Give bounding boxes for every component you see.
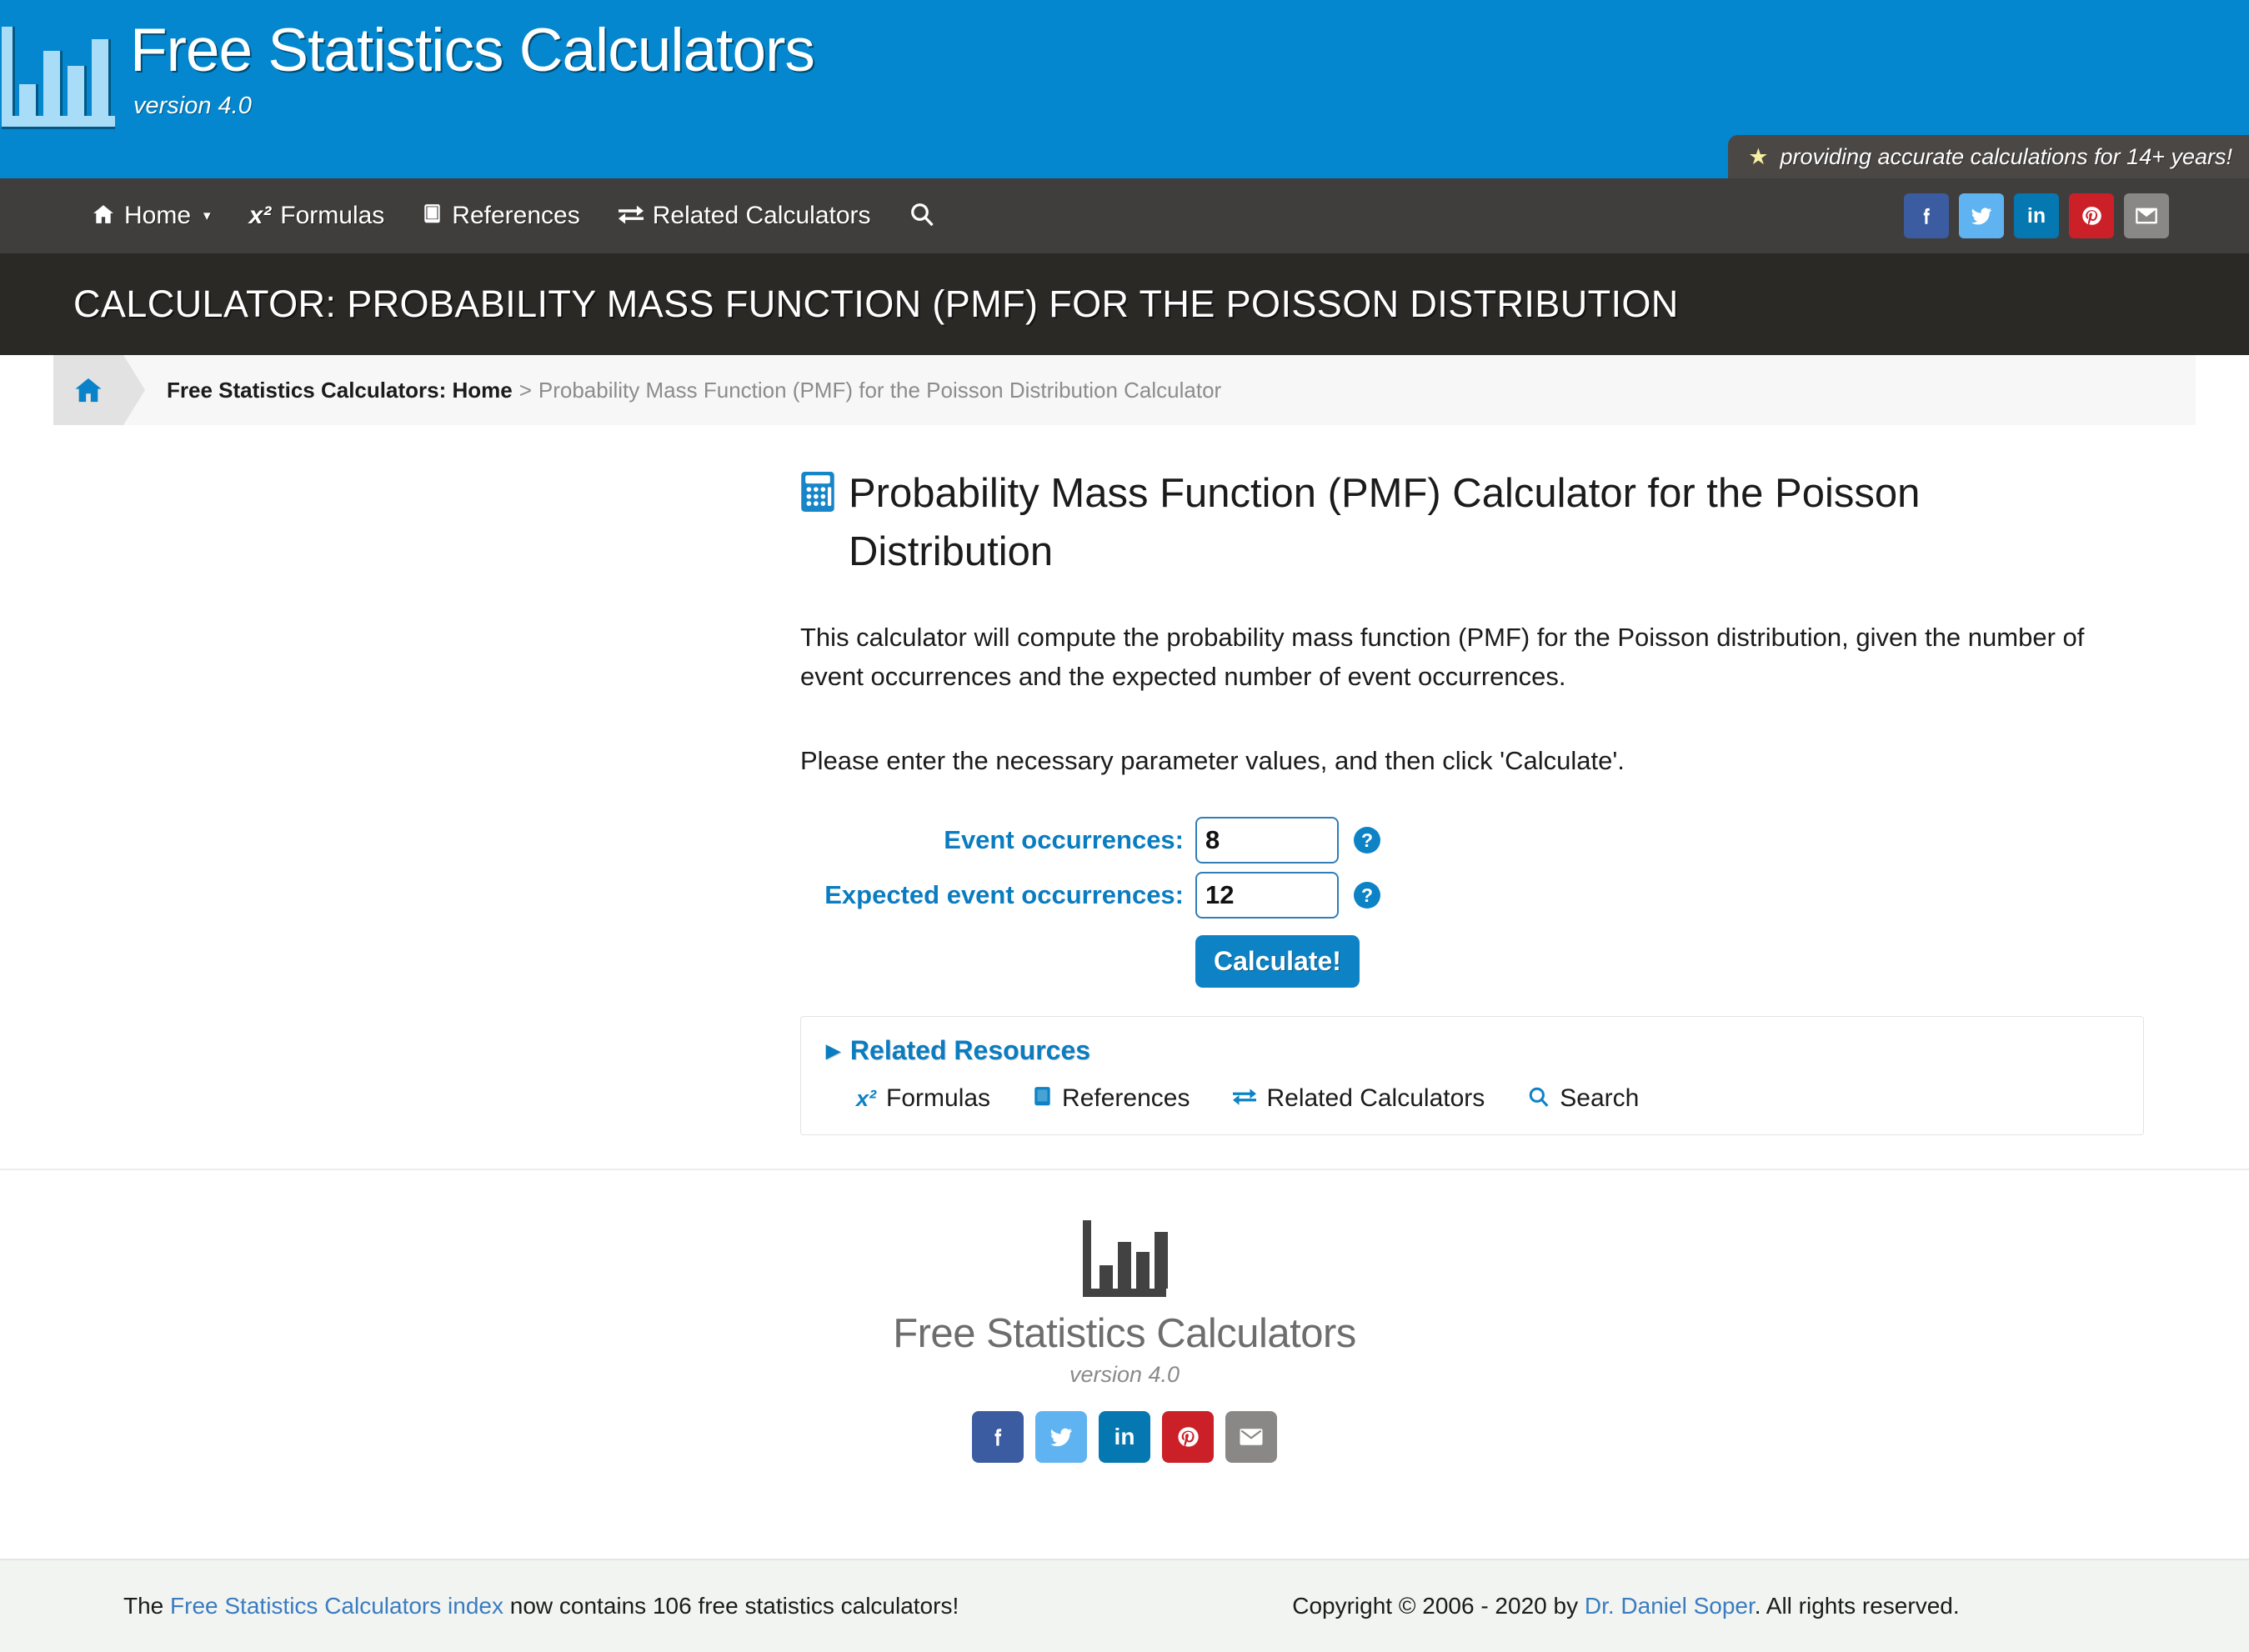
star-icon: ★ bbox=[1748, 146, 1768, 168]
calculator-icon bbox=[800, 472, 835, 516]
calculator-instruction: Please enter the necessary parameter val… bbox=[800, 741, 2151, 780]
author-link[interactable]: Dr. Daniel Soper bbox=[1585, 1593, 1755, 1619]
related-link-related-calculators[interactable]: Related Calculators bbox=[1233, 1084, 1485, 1113]
site-title: Free Statistics Calculators bbox=[130, 20, 814, 81]
copyright-suffix: . All rights reserved. bbox=[1755, 1593, 1960, 1619]
twitter-icon[interactable] bbox=[1035, 1411, 1087, 1463]
calculators-index-link[interactable]: Free Statistics Calculators index bbox=[170, 1593, 503, 1619]
event-occurrences-help-icon[interactable]: ? bbox=[1354, 827, 1380, 854]
site-footer: Free Statistics Calculators version 4.0 … bbox=[0, 1170, 2249, 1496]
copyright-prefix: Copyright © 2006 - 2020 by bbox=[1292, 1593, 1585, 1619]
nav-item-home[interactable]: Home ▾ bbox=[92, 202, 211, 230]
bottom-left-suffix: now contains 106 free statistics calcula… bbox=[503, 1593, 959, 1619]
tagline-badge: ★ providing accurate calculations for 14… bbox=[1728, 135, 2249, 178]
related-link-search[interactable]: Search bbox=[1528, 1084, 1639, 1113]
expected-event-occurrences-input[interactable] bbox=[1195, 872, 1339, 919]
facebook-icon[interactable] bbox=[1904, 193, 1949, 238]
calculate-button[interactable]: Calculate! bbox=[1195, 935, 1360, 988]
nav-item-references-label: References bbox=[452, 202, 579, 230]
bar-chart-logo-icon bbox=[1079, 1220, 1170, 1297]
calculator-title: Probability Mass Function (PMF) Calculat… bbox=[849, 465, 2057, 581]
event-occurrences-label: Event occurrences: bbox=[800, 825, 1184, 855]
expected-event-occurrences-help-icon[interactable]: ? bbox=[1354, 882, 1380, 909]
brand-text: Free Statistics Calculators version 4.0 bbox=[118, 15, 814, 120]
home-icon bbox=[73, 376, 103, 404]
related-link-search-label: Search bbox=[1560, 1084, 1639, 1113]
breadcrumb: Free Statistics Calculators: Home > Prob… bbox=[53, 355, 2196, 425]
expected-event-occurrences-label: Expected event occurrences: bbox=[800, 880, 1184, 910]
breadcrumb-home-link[interactable]: Free Statistics Calculators: Home bbox=[167, 378, 513, 403]
breadcrumb-current: Probability Mass Function (PMF) for the … bbox=[538, 378, 1221, 403]
book-icon bbox=[423, 203, 443, 229]
content-column: Probability Mass Function (PMF) Calculat… bbox=[800, 465, 2151, 1135]
copyright-text: Copyright © 2006 - 2020 by Dr. Daniel So… bbox=[1292, 1593, 1959, 1619]
pinterest-icon[interactable] bbox=[2069, 193, 2114, 238]
linkedin-icon[interactable]: in bbox=[2014, 193, 2059, 238]
related-link-formulas[interactable]: x² Formulas bbox=[856, 1084, 990, 1113]
tagline-text: providing accurate calculations for 14+ … bbox=[1780, 144, 2232, 170]
nav-item-related-calculators[interactable]: Related Calculators bbox=[619, 202, 871, 230]
nav-social-links: in bbox=[1904, 193, 2169, 238]
related-link-references-label: References bbox=[1062, 1084, 1190, 1113]
related-resources-title: Related Resources bbox=[850, 1035, 1090, 1066]
caret-right-icon: ▶ bbox=[826, 1040, 840, 1062]
search-icon bbox=[909, 202, 934, 231]
bottom-bar: The Free Statistics Calculators index no… bbox=[0, 1559, 2249, 1652]
x-squared-icon: x² bbox=[249, 203, 272, 228]
exchange-icon bbox=[1233, 1088, 1256, 1110]
nav-item-related-calculators-label: Related Calculators bbox=[653, 202, 871, 230]
twitter-icon[interactable] bbox=[1959, 193, 2004, 238]
related-link-formulas-label: Formulas bbox=[886, 1084, 990, 1113]
related-link-references[interactable]: References bbox=[1034, 1084, 1190, 1113]
page-title: CALCULATOR: PROBABILITY MASS FUNCTION (P… bbox=[73, 283, 1679, 326]
nav-item-formulas[interactable]: x² Formulas bbox=[249, 202, 385, 230]
related-resources-links: x² Formulas References Related Calculato… bbox=[826, 1084, 2118, 1113]
footer-social-links: in bbox=[972, 1411, 1277, 1463]
calculator-form: Event occurrences: ? Expected event occu… bbox=[800, 817, 2151, 988]
nav-items: Home ▾ x² Formulas References Related Ca… bbox=[92, 202, 934, 231]
exchange-icon bbox=[619, 204, 644, 228]
brand-row: Free Statistics Calculators version 4.0 bbox=[0, 0, 2249, 130]
calculator-description: This calculator will compute the probabi… bbox=[800, 618, 2151, 696]
nav-item-search[interactable] bbox=[909, 202, 934, 231]
calculator-count-text: The Free Statistics Calculators index no… bbox=[123, 1593, 959, 1619]
breadcrumb-separator: > bbox=[519, 378, 532, 403]
footer-site-name: Free Statistics Calculators bbox=[893, 1310, 1356, 1357]
book-icon bbox=[1034, 1086, 1052, 1112]
main-content: Probability Mass Function (PMF) Calculat… bbox=[0, 425, 2249, 1169]
email-icon[interactable] bbox=[1225, 1411, 1277, 1463]
site-version: version 4.0 bbox=[133, 93, 814, 120]
bar-chart-logo-icon bbox=[0, 23, 118, 130]
footer-version: version 4.0 bbox=[1069, 1362, 1180, 1388]
page-title-band: CALCULATOR: PROBABILITY MASS FUNCTION (P… bbox=[0, 253, 2249, 355]
related-resources-box: ▶ Related Resources x² Formulas Referenc… bbox=[800, 1016, 2144, 1135]
bottom-left-prefix: The bbox=[123, 1593, 170, 1619]
breadcrumb-text: Free Statistics Calculators: Home > Prob… bbox=[123, 355, 1221, 425]
calculator-heading: Probability Mass Function (PMF) Calculat… bbox=[800, 465, 2151, 581]
home-icon bbox=[92, 203, 115, 229]
nav-item-formulas-label: Formulas bbox=[280, 202, 384, 230]
chevron-down-icon: ▾ bbox=[203, 208, 211, 224]
email-icon[interactable] bbox=[2124, 193, 2169, 238]
x-squared-icon: x² bbox=[856, 1088, 876, 1110]
search-icon bbox=[1528, 1086, 1550, 1112]
nav-item-home-label: Home bbox=[124, 202, 191, 230]
linkedin-icon[interactable]: in bbox=[1099, 1411, 1150, 1463]
related-link-related-calculators-label: Related Calculators bbox=[1266, 1084, 1485, 1113]
pinterest-icon[interactable] bbox=[1162, 1411, 1214, 1463]
site-header: Free Statistics Calculators version 4.0 … bbox=[0, 0, 2249, 178]
main-navbar: Home ▾ x² Formulas References Related Ca… bbox=[0, 178, 2249, 253]
facebook-icon[interactable] bbox=[972, 1411, 1024, 1463]
nav-item-references[interactable]: References bbox=[423, 202, 579, 230]
event-occurrences-input[interactable] bbox=[1195, 817, 1339, 864]
breadcrumb-home-button[interactable] bbox=[53, 355, 123, 425]
related-resources-toggle[interactable]: ▶ Related Resources bbox=[826, 1035, 2118, 1066]
